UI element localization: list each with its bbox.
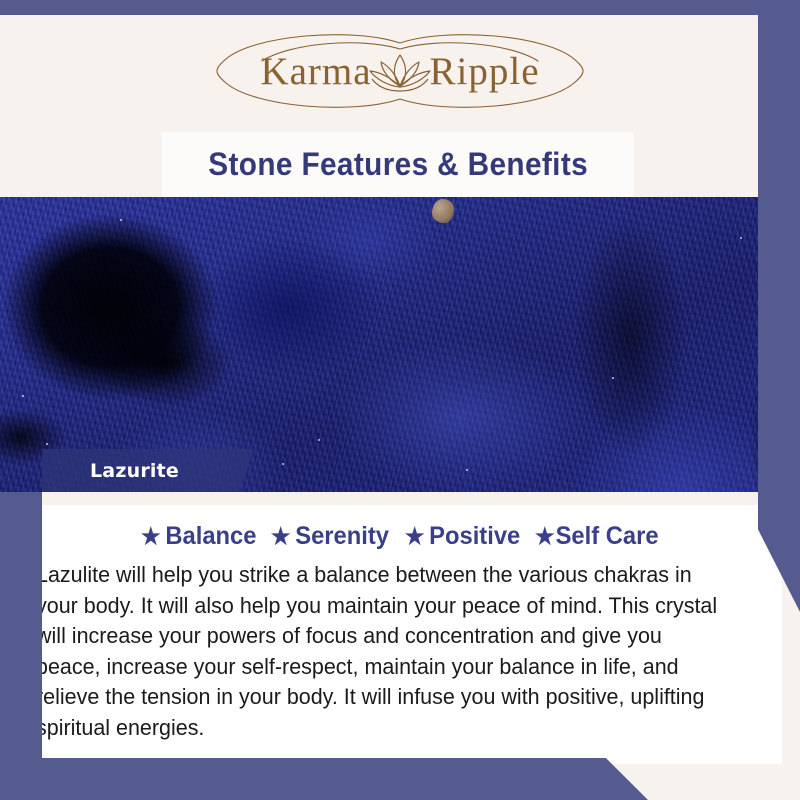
feature-item-0: ★ Balance [141, 522, 256, 551]
stone-feature-list: ★ Balance ★ Serenity ★ Positive ★ Self C… [18, 522, 782, 551]
stone-sparkle [612, 377, 614, 379]
panel-top-tint [18, 492, 782, 505]
stone-sparkle [22, 395, 24, 397]
stone-description-panel: ★ Balance ★ Serenity ★ Positive ★ Self C… [18, 492, 782, 764]
stone-name-banner: Lazurite [42, 449, 254, 492]
brand-word-ripple: Ripple [430, 49, 540, 94]
brand-word-karma: Karma [260, 49, 371, 94]
stone-sparkle [46, 443, 48, 445]
feature-item-2: ★ Positive [396, 522, 520, 551]
stone-texture [0, 197, 800, 492]
stone-info-card: Karma Ripple Stone Features & Benefits L… [0, 0, 800, 800]
stone-sparkle [282, 463, 284, 465]
feature-label-0: Balance [165, 522, 256, 551]
stone-inclusion-speck [432, 199, 454, 223]
decor-top-bar [0, 0, 800, 15]
stone-hero-image [0, 197, 800, 492]
stone-name-label: Lazurite [42, 460, 179, 482]
stone-sparkle [740, 237, 742, 239]
feature-item-1: ★ Serenity [263, 522, 390, 551]
stone-description-text: Lazulite will help you strike a balance … [36, 560, 720, 743]
page-title-plaque: Stone Features & Benefits [162, 132, 634, 197]
page-title: Stone Features & Benefits [208, 146, 588, 183]
star-icon: ★ [535, 525, 555, 548]
brand-header: Karma Ripple [0, 15, 800, 127]
stone-sparkle [120, 219, 122, 221]
stone-sparkle [318, 439, 320, 441]
star-icon: ★ [141, 525, 161, 548]
star-icon: ★ [404, 525, 424, 548]
brand-wordmark: Karma Ripple [260, 49, 539, 94]
feature-item-3: ★ Self Care [527, 522, 659, 551]
stone-sparkle [466, 469, 468, 471]
feature-label-2: Positive [429, 522, 520, 551]
feature-label-3: Self Care [556, 522, 659, 551]
decor-right-bar [758, 0, 800, 612]
star-icon: ★ [271, 525, 291, 548]
decor-left-bar [0, 492, 42, 800]
feature-label-1: Serenity [296, 522, 390, 551]
brand-logo: Karma Ripple [200, 29, 600, 113]
decor-bottom-bar [0, 758, 648, 800]
